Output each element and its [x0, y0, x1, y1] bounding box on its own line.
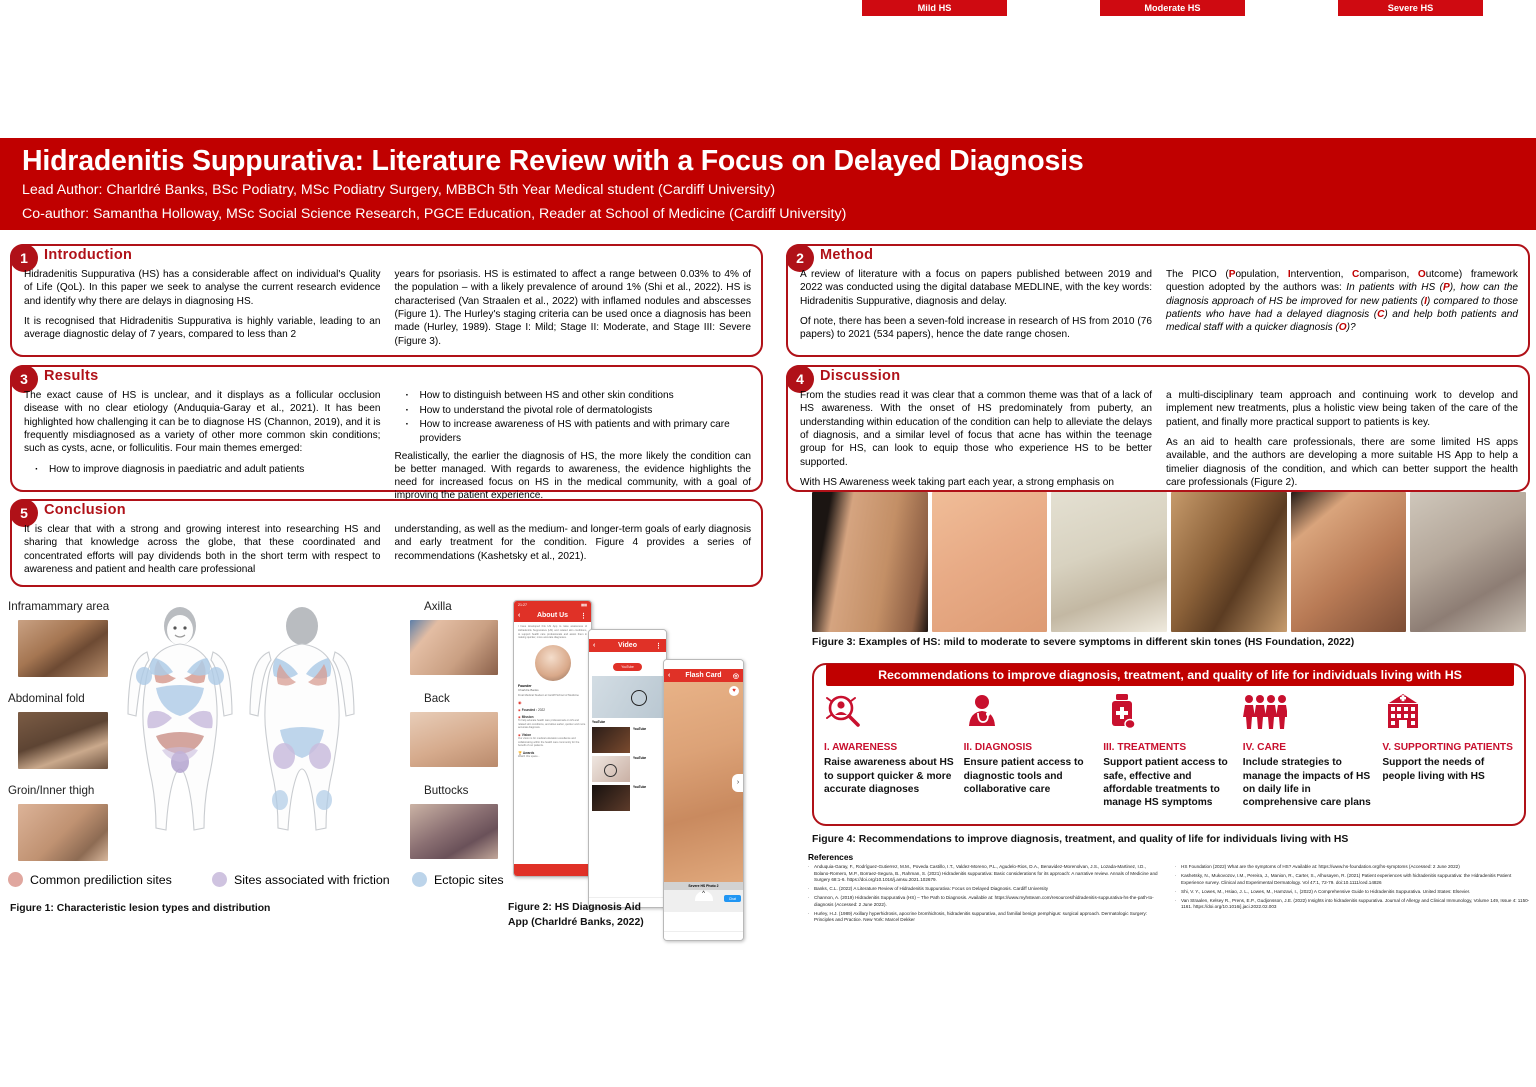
page-title: Hidradenitis Suppurativa: Literature Rev… — [0, 138, 1536, 177]
phone1-founder-name: Charldré Banks — [518, 688, 587, 692]
section-introduction: 1 Introduction Hidradenitis Suppurativa … — [10, 244, 763, 357]
link-icon[interactable]: ◉ — [518, 700, 587, 705]
figure1-photo-buttocks — [410, 804, 498, 859]
back-chevron-icon[interactable]: ‹ — [668, 672, 670, 679]
phone1-vision-text: Our vision is for medical education exce… — [518, 737, 587, 748]
video-label-3: YouTube — [633, 756, 646, 782]
phone1-awards-text: Watch this space... — [518, 755, 587, 758]
flash-card-skin-photo[interactable]: ♥ › — [664, 682, 743, 882]
pico-letter-o: O — [1418, 269, 1426, 280]
phone3-home-indicator — [664, 931, 743, 940]
video-label-1: YouTube — [592, 720, 663, 724]
section-results: 3 Results The exact cause of HS is uncle… — [10, 365, 763, 492]
intro-paragraph-3: years for psoriasis. HS is estimated to … — [395, 268, 752, 348]
figure1-photo-back — [410, 712, 498, 767]
phone1-bottom-bar — [514, 864, 591, 876]
phone-video[interactable]: ‹ Video ⋮ YouTube YouTube YouTube — [588, 629, 667, 908]
people-group-icon — [1243, 693, 1287, 731]
figure1-label-back: Back — [424, 692, 450, 708]
section-heading-introduction: Introduction — [44, 247, 132, 263]
figure1-photo-inframammary — [18, 620, 108, 677]
phone2-status-bar — [589, 630, 666, 639]
discussion-paragraph-2: With HS Awareness week taking part each … — [800, 476, 1152, 489]
section-heading-discussion: Discussion — [820, 368, 900, 384]
phone3-title: Flash Card — [685, 672, 721, 679]
reference-item: Hurley, H.J. (1989) Axillary hyperhidros… — [808, 911, 1163, 924]
phone1-title: About Us — [537, 612, 568, 619]
rec-body-diagnosis: Ensure patient access to diagnostic tool… — [964, 756, 1098, 796]
f1-right-label-1: Back — [424, 692, 450, 705]
rec-title-supporting: V. SUPPORTING PATIENTS — [1382, 742, 1516, 754]
section-heading-conclusion: Conclusion — [44, 502, 126, 518]
lead-author-line: Lead Author: Charldré Banks, BSc Podiatr… — [0, 177, 1536, 201]
heart-icon[interactable]: ♥ — [729, 686, 739, 696]
rec-title-diagnosis: II. DIAGNOSIS — [964, 742, 1098, 754]
f1-left-label-2: Groin/Inner thigh — [8, 784, 94, 797]
flash-card-footer-label: Severe HS Photo 2 — [664, 882, 743, 890]
reference-item: Shi, V. Y., Lowes, M., Hsiao, J. L., Low… — [1175, 889, 1530, 896]
phone1-intro-text: I have developed this HS App to raise aw… — [518, 625, 587, 640]
f1-left-label-0: Inframammary area — [8, 600, 109, 613]
phone1-status-icons: ▮▮▮ — [581, 603, 587, 607]
rec-body-awareness: Raise awareness about HS to support quic… — [824, 756, 958, 796]
play-icon[interactable] — [604, 764, 617, 777]
next-chevron-icon[interactable]: › — [732, 774, 744, 792]
results-theme-list-left: How to improve diagnosis in paediatric a… — [24, 463, 381, 477]
recommendation-treatments: III. TREATMENTS Support patient access t… — [1103, 693, 1237, 810]
hs-photo-mild-1 — [812, 492, 928, 632]
phone1-founder-role: Final Medical Student at Cardiff School … — [518, 694, 587, 697]
intro-paragraph-2: It is recognised that Hidradenitis Suppu… — [24, 315, 381, 342]
figure1-label-abdominal: Abdominal fold — [8, 692, 85, 708]
phone3-status-bar — [664, 660, 743, 669]
results-theme-list-right: How to distinguish between HS and other … — [395, 389, 752, 446]
f1-right-label-2: Buttocks — [424, 784, 468, 797]
reference-item: Van Straalen, Kelsey R., Prens, E.P., Gu… — [1175, 898, 1530, 911]
figure1-body-diagram — [118, 604, 378, 866]
legend-label-prediliction: Common prediliction sites — [30, 873, 172, 887]
hs-photo-moderate-2 — [1171, 492, 1287, 632]
phone1-status-bar: 21:27 ▮▮▮ — [514, 601, 591, 609]
figure1-label-groin: Groin/Inner thigh — [8, 784, 94, 800]
references-column-1: Anduquia-Garay, F., Rodríguez-Gutierrez,… — [808, 864, 1163, 927]
phone2-title: Video — [618, 642, 637, 649]
play-icon[interactable] — [631, 690, 647, 706]
phone2-title-bar: ‹ Video ⋮ — [589, 639, 666, 652]
phone3-title-bar: ‹ Flash Card ◎ — [664, 669, 743, 682]
figure2-caption-line2: App (Charldré Banks, 2022) — [508, 915, 644, 930]
references-section: References Anduquia-Garay, F., Rodríguez… — [808, 852, 1530, 927]
chat-button[interactable]: Chat — [724, 895, 741, 902]
medicine-bottle-icon — [1103, 693, 1143, 731]
recommendation-care: IV. CARE Include strategies to manage th… — [1243, 693, 1377, 810]
hs-photo-mild-2 — [932, 492, 1048, 632]
section-discussion: 4 Discussion From the studies read it wa… — [786, 365, 1530, 492]
results-theme-1: How to improve diagnosis in paediatric a… — [41, 463, 381, 477]
figure1-caption: Figure 1: Characteristic lesion types an… — [10, 903, 270, 914]
results-theme-2: How to distinguish between HS and other … — [412, 389, 752, 403]
video-thumb-4[interactable] — [592, 785, 630, 811]
figure1-label-buttocks: Buttocks — [424, 784, 468, 800]
hospital-building-icon — [1382, 693, 1424, 731]
phone1-mission-text: To help educate health care professional… — [518, 719, 587, 730]
reference-item: Banks, C.L. (2022) A Literature Review o… — [808, 886, 1163, 893]
figure2-caption: Figure 2: HS Diagnosis Aid App (Charldré… — [508, 900, 644, 930]
pico-question-5: )? — [1347, 322, 1356, 333]
section-conclusion: 5 Conclusion It is clear that with a str… — [10, 499, 763, 587]
results-theme-4: How to increase awareness of HS with pat… — [412, 418, 752, 445]
recommendation-supporting-patients: V. SUPPORTING PATIENTS Support the needs… — [1382, 693, 1516, 810]
badge-severe-hs: Severe HS — [1338, 0, 1483, 16]
method-paragraph-1: A review of literature with a focus on p… — [800, 268, 1152, 308]
conclusion-paragraph-1: It is clear that with a strong and growi… — [24, 523, 381, 576]
badge-mild-hs: Mild HS — [862, 0, 1007, 16]
discussion-paragraph-4: As an aid to health care professionals, … — [1166, 436, 1518, 489]
badge-moderate-hs: Moderate HS — [1100, 0, 1245, 16]
phone-flash-card[interactable]: ‹ Flash Card ◎ ♥ › Severe HS Photo 2 ^ C… — [663, 659, 744, 941]
expand-chevron-icon[interactable]: ^ — [695, 891, 713, 901]
poster-root: Hidradenitis Suppurativa: Literature Rev… — [0, 0, 1536, 1087]
reference-item: Anduquia-Garay, F., Rodríguez-Gutierrez,… — [808, 864, 1163, 884]
pico-question-1: In patients with HS ( — [1346, 282, 1443, 293]
figure1-legend-ectopic: Ectopic sites — [412, 872, 504, 887]
phone1-time: 21:27 — [518, 603, 527, 607]
overflow-menu-icon[interactable]: ⋮ — [580, 612, 587, 620]
phone1-founded-row: ◉ Founded : 2022 — [518, 708, 587, 712]
figure1-label-inframammary: Inframammary area — [8, 600, 109, 616]
section-heading-results: Results — [44, 368, 98, 384]
reference-item: HS Foundation (2022) What are the sympto… — [1175, 864, 1530, 871]
section-heading-method: Method — [820, 247, 873, 263]
settings-icon[interactable]: ◎ — [733, 672, 739, 680]
method-paragraph-2: Of note, there has been a seven-fold inc… — [800, 315, 1152, 342]
reference-item: Kashetsky, N., Mukovozov, I.M., Pereira,… — [1175, 873, 1530, 886]
conclusion-paragraph-2: understanding, as well as the medium- an… — [395, 523, 752, 563]
hs-photo-moderate-1 — [1051, 492, 1167, 632]
hs-photo-severe-2 — [1410, 492, 1526, 632]
section-method: 2 Method A review of literature with a f… — [786, 244, 1530, 357]
co-author-line: Co-author: Samantha Holloway, MSc Social… — [0, 201, 1536, 225]
pico-prefix: The PICO ( — [1166, 269, 1229, 280]
f1-right-label-0: Axilla — [424, 600, 452, 613]
phone1-title-bar: ‹ About Us ⋮ — [514, 609, 591, 622]
doctor-stethoscope-icon — [964, 693, 1004, 731]
overflow-menu-icon[interactable]: ⋮ — [655, 642, 662, 650]
founded-icon: ◉ — [518, 708, 521, 712]
phone-about-us[interactable]: 21:27 ▮▮▮ ‹ About Us ⋮ I have developed … — [513, 600, 592, 877]
video-label-2: YouTube — [633, 727, 646, 753]
awareness-magnifier-icon — [824, 693, 864, 731]
figure1-photo-abdominal — [18, 712, 108, 769]
back-chevron-icon[interactable]: ‹ — [593, 642, 595, 649]
rec-title-treatments: III. TREATMENTS — [1103, 742, 1237, 754]
recommendation-diagnosis: II. DIAGNOSIS Ensure patient access to d… — [964, 693, 1098, 810]
recommendation-awareness: I. AWARENESS Raise awareness about HS to… — [824, 693, 958, 810]
recommendations-banner: Recommendations to improve diagnosis, tr… — [826, 664, 1514, 686]
figure1-legend-friction: Sites associated with friction — [212, 872, 390, 887]
legend-label-friction: Sites associated with friction — [234, 873, 390, 887]
rec-body-care: Include strategies to manage the impacts… — [1243, 756, 1377, 809]
pico-q-letter-p: P — [1443, 282, 1450, 293]
video-label-4: YouTube — [633, 785, 646, 811]
video-thumb-3[interactable] — [592, 756, 630, 782]
poster-header: Hidradenitis Suppurativa: Literature Rev… — [0, 138, 1536, 230]
phone1-founded-label: Founded : — [522, 708, 537, 712]
results-paragraph-2: Realistically, the earlier the diagnosis… — [395, 450, 752, 503]
results-paragraph-1: The exact cause of HS is unclear, and it… — [24, 389, 381, 456]
f1-left-label-1: Abdominal fold — [8, 692, 85, 705]
legend-dot-friction — [212, 872, 227, 887]
pico-intervention: ntervention, — [1291, 269, 1352, 280]
rec-body-treatments: Support patient access to safe, effectiv… — [1103, 756, 1237, 809]
video-thumb-1[interactable] — [592, 676, 663, 718]
figure3-caption: Figure 3: Examples of HS: mild to modera… — [812, 637, 1354, 648]
video-thumb-2[interactable] — [592, 727, 630, 753]
pico-q-letter-o: O — [1339, 322, 1347, 333]
figure1-label-axilla: Axilla — [424, 600, 452, 616]
hs-photo-severe-1 — [1291, 492, 1407, 632]
youtube-chip[interactable]: YouTube — [613, 663, 642, 671]
figure1-photo-axilla — [410, 620, 498, 675]
founder-avatar — [535, 645, 571, 681]
rec-body-supporting: Support the needs of people living with … — [1382, 756, 1516, 783]
results-theme-3: How to understand the pivotal role of de… — [412, 404, 752, 418]
legend-dot-prediliction — [8, 872, 23, 887]
figure1-photo-groin — [18, 804, 108, 861]
intro-paragraph-1: Hidradenitis Suppurativa (HS) has a cons… — [24, 268, 381, 308]
phone1-founded-value: 2022 — [538, 708, 545, 712]
discussion-paragraph-3: a multi-disciplinary team approach and c… — [1166, 389, 1518, 429]
rec-title-care: IV. CARE — [1243, 742, 1377, 754]
figure2-caption-line1: Figure 2: HS Diagnosis Aid — [508, 900, 644, 915]
reference-item: Channon, A. (2019) Hidradenitis Suppurat… — [808, 895, 1163, 908]
figure-4-recommendations: Recommendations to improve diagnosis, tr… — [812, 663, 1526, 826]
figure4-caption: Figure 4: Recommendations to improve dia… — [812, 834, 1348, 845]
figure1-legend-prediliction: Common prediliction sites — [8, 872, 172, 887]
pico-comparison: omparison, — [1359, 269, 1418, 280]
rec-title-awareness: I. AWARENESS — [824, 742, 958, 754]
back-chevron-icon[interactable]: ‹ — [518, 612, 520, 619]
method-pico-paragraph: The PICO (Population, Intervention, Comp… — [1166, 268, 1518, 335]
pico-population: opulation, — [1235, 269, 1287, 280]
references-column-2: HS Foundation (2022) What are the sympto… — [1175, 864, 1530, 927]
legend-label-ectopic: Ectopic sites — [434, 873, 504, 887]
legend-dot-ectopic — [412, 872, 427, 887]
references-heading: References — [808, 852, 1530, 862]
discussion-paragraph-1: From the studies read it was clear that … — [800, 389, 1152, 469]
